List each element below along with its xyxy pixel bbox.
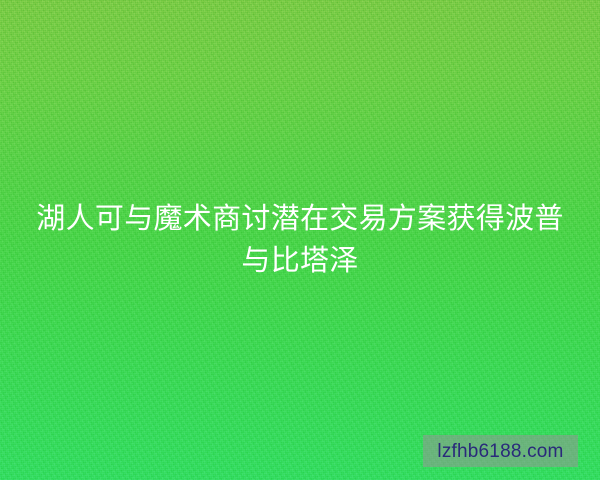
watermark-url-text: lzfhb6188.com xyxy=(437,442,563,461)
headline-title: 湖人可与魔术商讨潜在交易方案获得波普与比塔泽 xyxy=(24,198,576,282)
headline-container: 湖人可与魔术商讨潜在交易方案获得波普与比塔泽 xyxy=(24,198,576,282)
image-card: 湖人可与魔术商讨潜在交易方案获得波普与比塔泽 lzfhb6188.com xyxy=(0,0,600,480)
watermark-badge: lzfhb6188.com xyxy=(423,435,578,467)
